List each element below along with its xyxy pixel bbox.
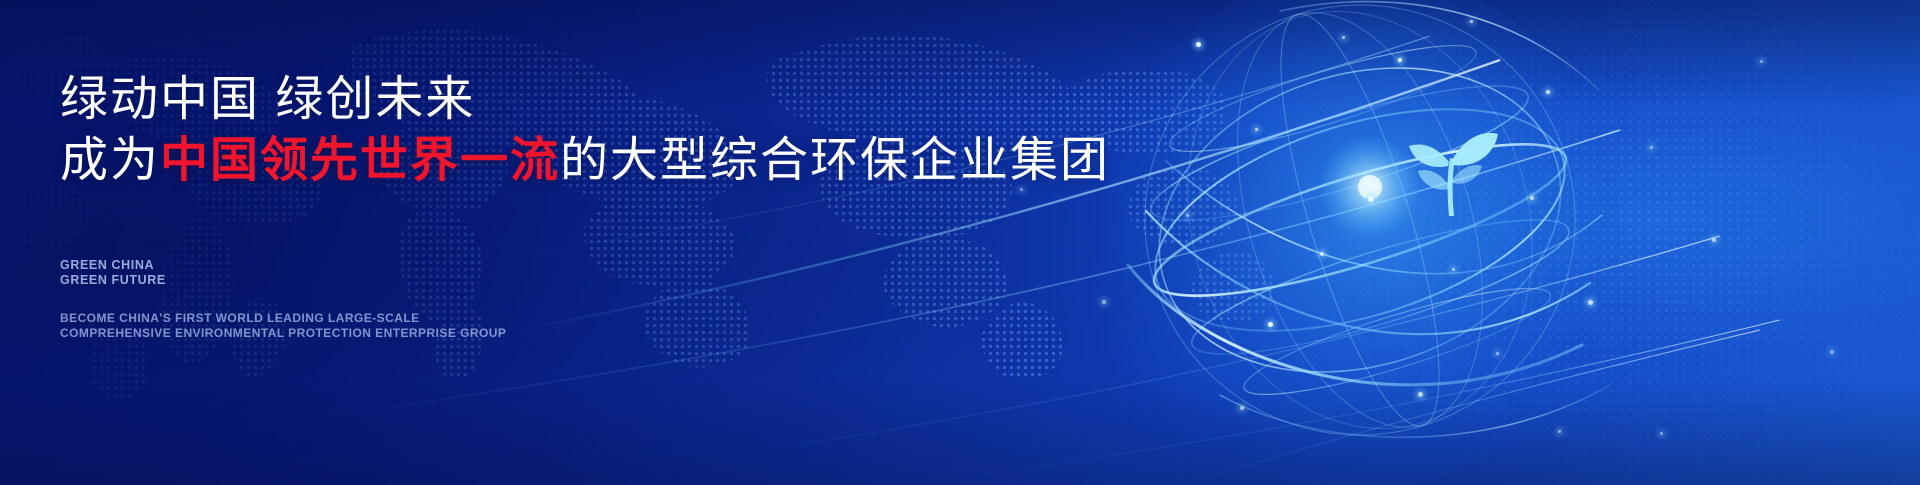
hero-banner: 绿动中国 绿创未来 成为中国领先世界一流的大型综合环保企业集团 GREEN CH… xyxy=(0,0,1920,485)
headline-line-1: 绿动中国 绿创未来 xyxy=(60,72,1060,129)
tagline-line-1: GREEN CHINA xyxy=(60,258,166,273)
headline-block: 绿动中国 绿创未来 成为中国领先世界一流的大型综合环保企业集团 xyxy=(60,72,1060,189)
headline-line-2-highlight: 中国领先世界一流 xyxy=(160,134,560,187)
headline-line-2-suffix: 的大型综合环保企业集团 xyxy=(560,134,1110,187)
paragraph-english: BECOME CHINA'S FIRST WORLD LEADING LARGE… xyxy=(60,311,506,340)
headline-line-2: 成为中国领先世界一流的大型综合环保企业集团 xyxy=(60,133,1060,190)
paragraph-line-2: COMPREHENSIVE ENVIRONMENTAL PROTECTION E… xyxy=(60,326,506,341)
tagline-english: GREEN CHINA GREEN FUTURE xyxy=(60,258,166,288)
paragraph-line-1: BECOME CHINA'S FIRST WORLD LEADING LARGE… xyxy=(60,311,506,326)
headline-line-2-prefix: 成为 xyxy=(60,134,160,187)
tagline-line-2: GREEN FUTURE xyxy=(60,273,166,288)
